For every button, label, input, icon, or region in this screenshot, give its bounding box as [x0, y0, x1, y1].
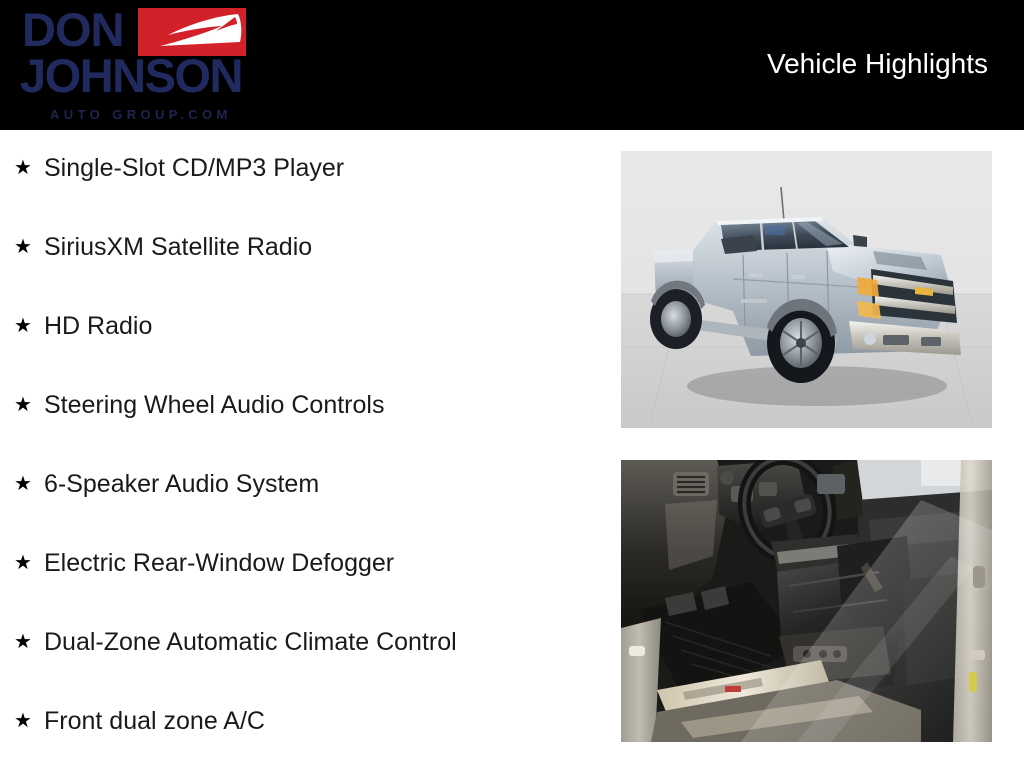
list-item: ★ SiriusXM Satellite Radio — [0, 234, 600, 313]
star-bullet-icon: ★ — [14, 550, 44, 577]
list-item: ★ Single-Slot CD/MP3 Player — [0, 155, 600, 234]
logo-line-don: DON — [22, 6, 123, 53]
header-bar: DON JOHNSON AUTO GROUP.COM Vehicle Highl… — [0, 0, 1024, 130]
feature-label: Dual-Zone Automatic Climate Control — [44, 629, 457, 656]
list-item: ★ Steering Wheel Audio Controls — [0, 392, 600, 471]
feature-label: SiriusXM Satellite Radio — [44, 234, 312, 261]
feature-label: Electric Rear-Window Defogger — [44, 550, 394, 577]
list-item: ★ 6-Speaker Audio System — [0, 471, 600, 550]
list-item: ★ Dual-Zone Automatic Climate Control — [0, 629, 600, 708]
feature-list: ★ Single-Slot CD/MP3 Player ★ SiriusXM S… — [0, 131, 600, 768]
feature-label: Front dual zone A/C — [44, 708, 265, 735]
star-bullet-icon: ★ — [14, 708, 44, 735]
page-title: Vehicle Highlights — [767, 50, 988, 78]
list-item: ★ Front dual zone A/C — [0, 708, 600, 768]
exterior-photo[interactable] — [621, 151, 992, 428]
feature-label: Single-Slot CD/MP3 Player — [44, 155, 344, 182]
list-item: ★ Electric Rear-Window Defogger — [0, 550, 600, 629]
star-bullet-icon: ★ — [14, 629, 44, 656]
feature-label: HD Radio — [44, 313, 152, 340]
list-item: ★ HD Radio — [0, 313, 600, 392]
star-bullet-icon: ★ — [14, 392, 44, 419]
logo-line-johnson: JOHNSON — [20, 52, 242, 99]
vehicle-highlights-slide: DON JOHNSON AUTO GROUP.COM Vehicle Highl… — [0, 0, 1024, 768]
feature-label: 6-Speaker Audio System — [44, 471, 319, 498]
truck-interior-illustration — [621, 460, 992, 742]
star-bullet-icon: ★ — [14, 313, 44, 340]
star-bullet-icon: ★ — [14, 155, 44, 182]
logo-tagline: AUTO GROUP.COM — [50, 108, 232, 121]
feature-label: Steering Wheel Audio Controls — [44, 392, 384, 419]
dealer-logo[interactable]: DON JOHNSON AUTO GROUP.COM — [22, 4, 262, 126]
interior-photo[interactable] — [621, 460, 992, 742]
star-bullet-icon: ★ — [14, 234, 44, 261]
star-bullet-icon: ★ — [14, 471, 44, 498]
truck-exterior-illustration — [621, 151, 992, 428]
